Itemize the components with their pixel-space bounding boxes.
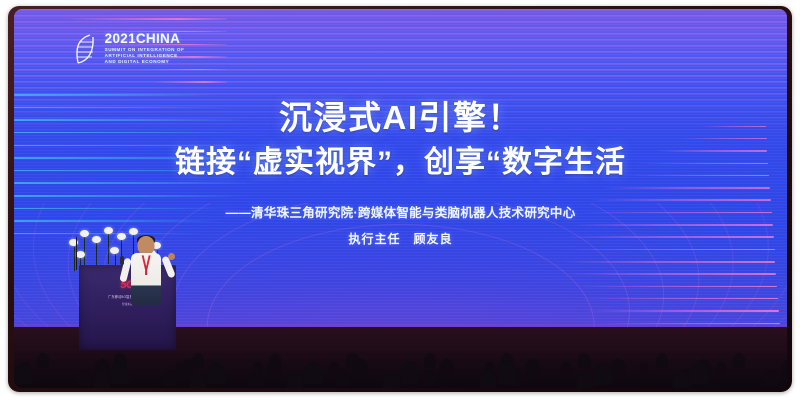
audience-shoulders: [94, 373, 110, 388]
event-logo-year: 2021CHINA: [105, 32, 185, 46]
audience-head: [525, 359, 540, 377]
audience-head: [353, 359, 368, 377]
slide-headline-secondary: 链接“虚实视界”，创享“数字生活: [14, 147, 787, 179]
accent-line: [153, 81, 228, 83]
audience-shoulders: [190, 373, 206, 388]
audience-shoulders: [716, 362, 727, 376]
accent-line: [135, 69, 227, 71]
audience-shoulders: [561, 362, 572, 376]
conference-emblem-icon: [70, 32, 100, 66]
audience-shoulders: [250, 369, 263, 386]
audience-head: [594, 362, 613, 384]
audience-head: [733, 353, 745, 368]
audience-head: [439, 359, 454, 377]
audience-head: [782, 359, 787, 377]
audience-shoulders: [765, 369, 778, 386]
flower-stem: [108, 234, 109, 264]
event-logo: 2021CHINA SUMMIT ON INTEGRATION OF ARTIF…: [70, 32, 185, 66]
event-logo-text: 2021CHINA SUMMIT ON INTEGRATION OF ARTIF…: [105, 32, 185, 65]
accent-line: [64, 18, 228, 20]
event-logo-line1: SUMMIT ON INTEGRATION OF: [105, 48, 185, 53]
speaker-microphone: [120, 256, 124, 265]
audience-head: [497, 362, 516, 384]
audience-head: [656, 353, 668, 368]
audience-shoulders: [164, 369, 177, 386]
slide-headline-primary: 沉浸式AI引擎！: [14, 100, 787, 136]
photo-frame: 2021CHINA SUMMIT ON INTEGRATION OF ARTIF…: [0, 0, 800, 400]
audience-head: [401, 362, 420, 384]
slide-organization: ——清华珠三角研究院·跨媒体智能与类脑机器人技术研究中心: [14, 202, 787, 221]
audience-head: [424, 353, 436, 368]
audience-shoulders: [78, 369, 91, 386]
audience-shoulders: [287, 373, 303, 388]
audience-shoulders: [383, 373, 399, 388]
event-logo-line3: AND DIGITAL ECONOMY: [105, 60, 185, 65]
audience-head: [610, 359, 625, 377]
flower-bloom: [104, 227, 113, 234]
audience-shoulders: [422, 369, 435, 386]
stage-scene: 2021CHINA SUMMIT ON INTEGRATION OF ARTIF…: [14, 9, 787, 388]
tv-bezel: 2021CHINA SUMMIT ON INTEGRATION OF ARTIF…: [8, 6, 792, 392]
audience-head: [578, 353, 590, 368]
audience-head: [304, 362, 323, 384]
audience-shoulders: [480, 373, 496, 388]
accent-line: [14, 94, 220, 96]
audience-head: [37, 353, 49, 368]
audience-head: [690, 362, 709, 384]
audience-shoulders: [577, 373, 593, 388]
flower-bloom: [80, 230, 89, 237]
flower-bloom: [129, 228, 138, 235]
flower-stem: [74, 247, 75, 272]
flower-bloom: [92, 236, 101, 243]
flower-stem: [84, 237, 85, 265]
audience-shoulders: [673, 373, 689, 388]
audience-head: [111, 362, 130, 384]
audience-shoulders: [639, 362, 650, 376]
audience-silhouettes: [14, 289, 787, 388]
audience-head: [267, 359, 282, 377]
audience-head: [14, 362, 33, 384]
microphone-stand: [76, 237, 78, 271]
audience-shoulders: [336, 369, 349, 386]
audience-head: [207, 362, 226, 384]
flower-bloom: [110, 247, 119, 254]
